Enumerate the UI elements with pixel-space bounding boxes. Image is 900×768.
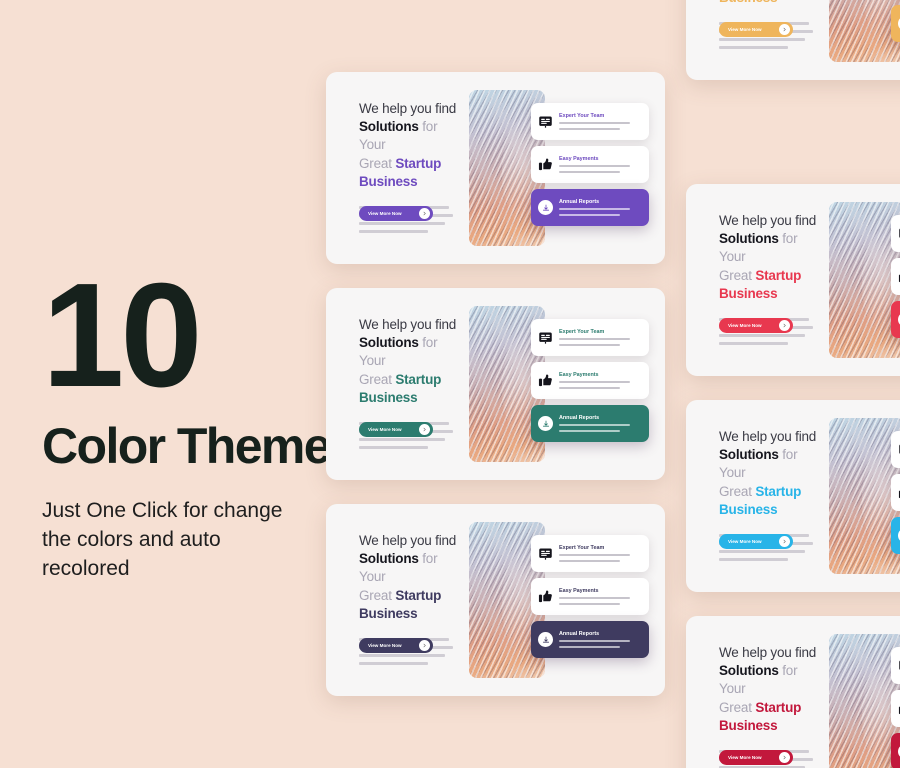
abstract-gradient-artwork — [829, 202, 900, 358]
slide-headline: We help you find Solutions for Your Grea… — [359, 532, 459, 623]
theme-count-number: 10 — [42, 272, 342, 399]
feature-body-text — [559, 381, 641, 389]
headline-solutions: Solutions — [359, 335, 419, 350]
download-report-icon — [538, 200, 553, 215]
headline-solutions: Solutions — [719, 663, 779, 678]
feature-card-easy-payments[interactable]: Easy Payments — [531, 146, 649, 183]
feature-title: Annual Reports — [559, 199, 641, 205]
headline-solutions: Solutions — [719, 231, 779, 246]
feature-title: Easy Payments — [559, 588, 641, 594]
feature-title: Expert Your Team — [559, 545, 641, 551]
headline-line-1: We help you find — [359, 316, 459, 334]
headline-business: Business — [719, 286, 777, 301]
feature-card-expert-your-team[interactable]: Expert Your Team — [531, 535, 649, 572]
feature-card-expert-your-team[interactable]: Expert Your Team — [531, 319, 649, 356]
headline-great: Great — [359, 372, 395, 387]
feature-card-easy-payments[interactable]: Easy Payments — [531, 362, 649, 399]
headline-great: Great — [719, 484, 755, 499]
headline-business: Business — [359, 390, 417, 405]
feature-card-easy-payments[interactable]: Easy Payments — [891, 474, 900, 511]
feature-card-easy-payments[interactable]: Easy Payments — [891, 690, 900, 727]
headline-startup: Startup — [755, 700, 801, 715]
chevron-right-icon — [419, 424, 430, 435]
chevron-right-icon — [419, 208, 430, 219]
feature-title: Annual Reports — [559, 631, 641, 637]
headline-startup: Startup — [395, 156, 441, 171]
feature-card-expert-your-team[interactable]: Expert Your Team — [891, 647, 900, 684]
headline-business: Business — [359, 606, 417, 621]
view-more-button[interactable]: View More Now — [719, 22, 793, 37]
presentation-board-icon — [538, 546, 553, 561]
slide-card-purple[interactable]: We help you find Solutions for Your Grea… — [326, 72, 665, 264]
thumbs-up-icon — [538, 589, 553, 604]
headline-great: Great — [359, 156, 395, 171]
feature-body-text — [559, 554, 641, 562]
headline-business: Business — [719, 718, 777, 733]
download-report-icon — [538, 416, 553, 431]
feature-body-text — [559, 640, 641, 648]
abstract-gradient-artwork — [829, 634, 900, 768]
feature-body-text — [559, 165, 641, 173]
headline-solutions: Solutions — [359, 119, 419, 134]
feature-title: Easy Payments — [559, 372, 641, 378]
feature-card-easy-payments[interactable]: Easy Payments — [531, 578, 649, 615]
headline-business: Business — [719, 502, 777, 517]
slide-headline: We help you find Solutions for Your Grea… — [719, 428, 819, 519]
feature-body-text — [559, 122, 641, 130]
view-more-button[interactable]: View More Now — [719, 750, 793, 765]
abstract-gradient-artwork — [829, 0, 900, 62]
headline-solutions: Solutions — [359, 551, 419, 566]
view-more-button-label: View More Now — [728, 539, 762, 544]
headline-line-1: We help you find — [719, 644, 819, 662]
slide-headline: We help you find Solutions for Your Grea… — [719, 644, 819, 735]
chevron-right-icon — [779, 536, 790, 547]
feature-card-expert-your-team[interactable]: Expert Your Team — [531, 103, 649, 140]
headline-great: Great — [719, 700, 755, 715]
presentation-board-icon — [538, 114, 553, 129]
slide-card-teal[interactable]: We help you find Solutions for Your Grea… — [326, 288, 665, 480]
feature-card-annual-reports[interactable]: Annual Reports — [891, 5, 900, 42]
feature-card-annual-reports[interactable]: Annual Reports — [531, 621, 649, 658]
abstract-gradient-artwork — [829, 418, 900, 574]
feature-card-expert-your-team[interactable]: Expert Your Team — [891, 215, 900, 252]
view-more-button[interactable]: View More Now — [359, 422, 433, 437]
feature-card-annual-reports[interactable]: Annual Reports — [531, 405, 649, 442]
feature-title: Expert Your Team — [559, 113, 641, 119]
feature-card-expert-your-team[interactable]: Expert Your Team — [891, 431, 900, 468]
view-more-button[interactable]: View More Now — [719, 318, 793, 333]
slide-card-crimson[interactable]: We help you find Solutions for Your Grea… — [686, 616, 900, 768]
view-more-button[interactable]: View More Now — [359, 206, 433, 221]
headline-startup: Startup — [395, 588, 441, 603]
thumbs-up-icon — [538, 157, 553, 172]
slide-headline: We help you find Solutions for Your Grea… — [719, 0, 819, 7]
feature-card-annual-reports[interactable]: Annual Reports — [531, 189, 649, 226]
headline-business: Business — [359, 174, 417, 189]
chevron-right-icon — [779, 320, 790, 331]
thumbs-up-icon — [538, 373, 553, 388]
slide-card-amber[interactable]: We help you find Solutions for Your Grea… — [686, 0, 900, 80]
view-more-button-label: View More Now — [728, 27, 762, 32]
headline-startup: Startup — [755, 484, 801, 499]
headline-great: Great — [359, 588, 395, 603]
feature-body-text — [559, 597, 641, 605]
feature-body-text — [559, 208, 641, 216]
chevron-right-icon — [419, 640, 430, 651]
page-subtitle: Just One Click for change the colors and… — [42, 497, 312, 584]
view-more-button-label: View More Now — [368, 211, 402, 216]
view-more-button-label: View More Now — [728, 755, 762, 760]
feature-card-annual-reports[interactable]: Annual Reports — [891, 301, 900, 338]
feature-title: Expert Your Team — [559, 329, 641, 335]
headline-line-1: We help you find — [719, 428, 819, 446]
headline-startup: Startup — [395, 372, 441, 387]
view-more-button[interactable]: View More Now — [359, 638, 433, 653]
slide-card-dark-navy[interactable]: We help you find Solutions for Your Grea… — [326, 504, 665, 696]
headline-solutions: Solutions — [719, 447, 779, 462]
feature-title: Annual Reports — [559, 415, 641, 421]
feature-body-text — [559, 424, 641, 432]
feature-card-annual-reports[interactable]: Annual Reports — [891, 517, 900, 554]
slide-card-red[interactable]: We help you find Solutions for Your Grea… — [686, 184, 900, 376]
slide-card-cyan[interactable]: We help you find Solutions for Your Grea… — [686, 400, 900, 592]
page-title: Color Theme — [42, 421, 342, 471]
promo-block: 10 Color Theme Just One Click for change… — [42, 272, 342, 584]
slide-headline: We help you find Solutions for Your Grea… — [359, 316, 459, 407]
headline-great: Great — [719, 268, 755, 283]
view-more-button[interactable]: View More Now — [719, 534, 793, 549]
headline-business: Business — [719, 0, 777, 5]
headline-line-1: We help you find — [359, 532, 459, 550]
view-more-button-label: View More Now — [368, 643, 402, 648]
feature-body-text — [559, 338, 641, 346]
slide-headline: We help you find Solutions for Your Grea… — [359, 100, 459, 191]
presentation-board-icon — [538, 330, 553, 345]
headline-startup: Startup — [755, 268, 801, 283]
view-more-button-label: View More Now — [368, 427, 402, 432]
feature-card-annual-reports[interactable]: Annual Reports — [891, 733, 900, 768]
slide-headline: We help you find Solutions for Your Grea… — [719, 212, 819, 303]
poster-canvas: 10 Color Theme Just One Click for change… — [0, 0, 900, 768]
headline-line-1: We help you find — [719, 212, 819, 230]
headline-line-1: We help you find — [359, 100, 459, 118]
chevron-right-icon — [779, 24, 790, 35]
download-report-icon — [538, 632, 553, 647]
chevron-right-icon — [779, 752, 790, 763]
view-more-button-label: View More Now — [728, 323, 762, 328]
feature-card-easy-payments[interactable]: Easy Payments — [891, 258, 900, 295]
feature-title: Easy Payments — [559, 156, 641, 162]
